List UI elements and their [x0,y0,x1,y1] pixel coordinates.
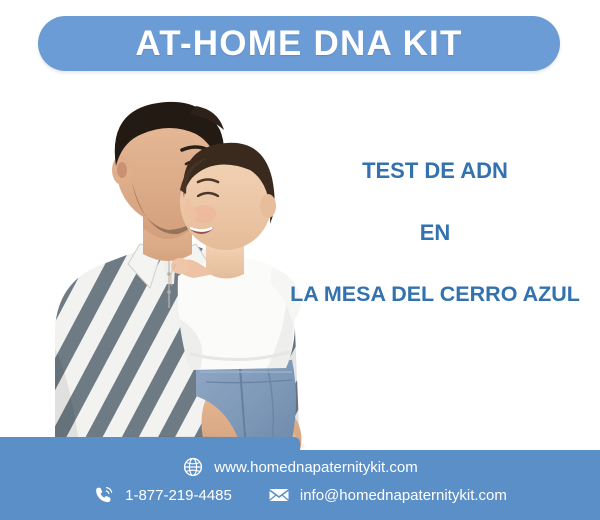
headline-line-1: TEST DE ADN [270,160,600,182]
footer-website-row[interactable]: www.homednapaternitykit.com [0,456,600,478]
globe-icon [182,456,204,478]
phone-icon [93,484,115,506]
footer-website-label: www.homednapaternitykit.com [214,460,417,475]
header-banner: AT-HOME DNA KIT [38,16,560,71]
headline-line-2: EN [270,222,600,244]
headline-block: TEST DE ADN EN LA MESA DEL CERRO AZUL [270,160,600,306]
headline-line-3: LA MESA DEL CERRO AZUL [270,284,600,306]
header-banner-label: AT-HOME DNA KIT [135,26,462,61]
footer-contact-row: 1-877-219-4485 info@homednapaternitykit.… [0,484,600,506]
footer-phone-label: 1-877-219-4485 [125,488,232,503]
envelope-icon [268,484,290,506]
footer-email-label: info@homednapaternitykit.com [300,488,507,503]
footer-content: www.homednapaternitykit.com 1-877-219-44… [0,450,600,520]
poster-canvas: AT-HOME DNA KIT [0,0,600,520]
